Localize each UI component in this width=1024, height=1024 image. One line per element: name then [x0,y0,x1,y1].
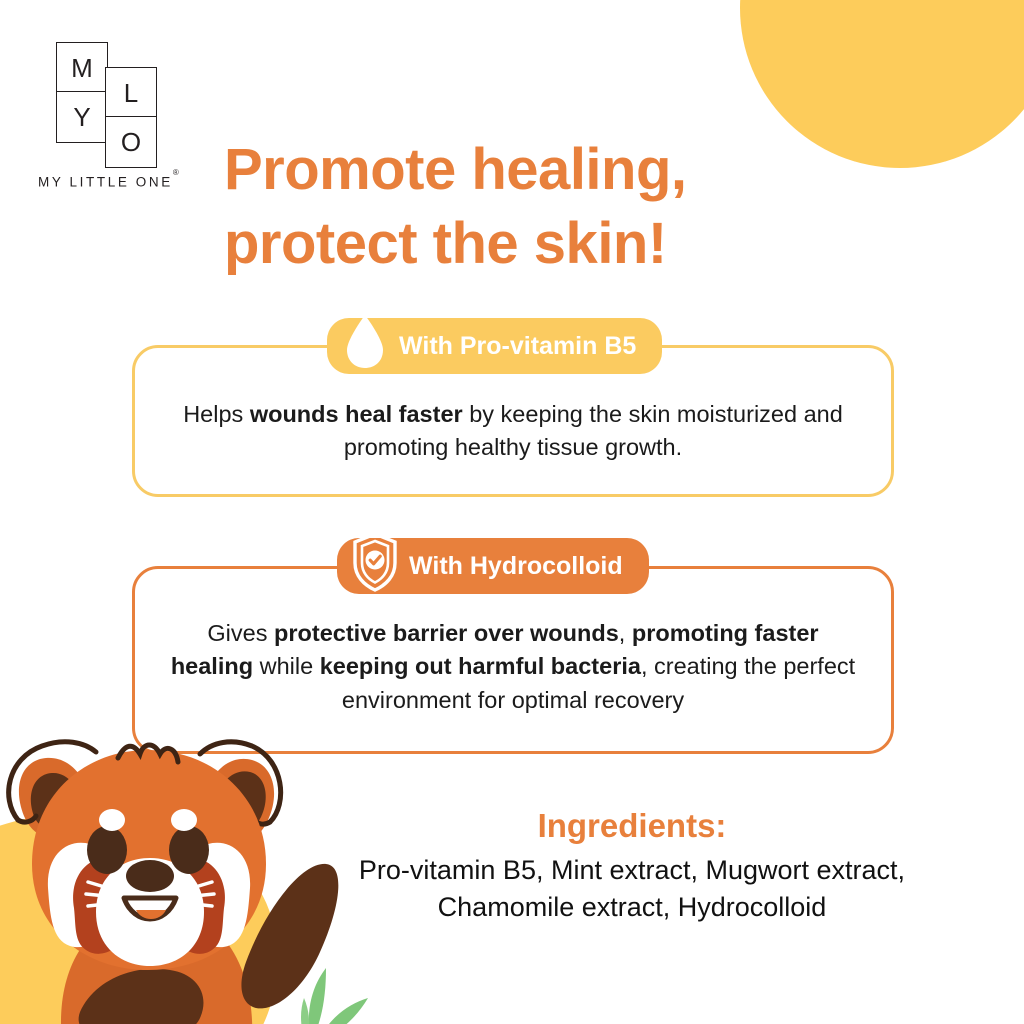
badge-pro-vitamin-b5: With Pro-vitamin B5 [327,318,662,374]
water-drop-icon [343,324,387,368]
poster-canvas: M Y L O MY LITTLE ONE® Promote healing, … [0,0,1024,1024]
shield-check-icon [353,544,397,588]
logo-letter-grid: M Y L O [56,42,171,160]
headline-line-1: Promote healing, [224,133,864,207]
ingredients-section: Ingredients: Pro-vitamin B5, Mint extrac… [352,806,912,926]
logo-letter-o: O [105,116,157,168]
feature-body-hydrocolloid: Gives protective barrier over wounds, pr… [135,617,891,717]
page-title: Promote healing, protect the skin! [224,133,864,281]
badge-hydrocolloid: With Hydrocolloid [337,538,649,594]
logo-letter-m: M [56,42,108,94]
ingredients-title: Ingredients: [352,806,912,846]
logo-letter-y: Y [56,91,108,143]
red-panda-mascot [0,712,344,1024]
logo-wordmark: MY LITTLE ONE® [38,174,218,190]
registered-trademark-icon: ® [173,168,182,177]
badge-label-hydrocolloid: With Hydrocolloid [409,552,623,581]
feature-body-pro-vitamin-b5: Helps wounds heal faster by keeping the … [135,398,891,465]
headline-line-2: protect the skin! [224,207,864,281]
badge-label-pro-vitamin-b5: With Pro-vitamin B5 [399,332,636,361]
logo-wordmark-text: MY LITTLE ONE [38,175,173,190]
logo-letter-l: L [105,67,157,119]
ingredients-list: Pro-vitamin B5, Mint extract, Mugwort ex… [352,852,912,927]
brand-logo: M Y L O MY LITTLE ONE® [38,42,218,190]
